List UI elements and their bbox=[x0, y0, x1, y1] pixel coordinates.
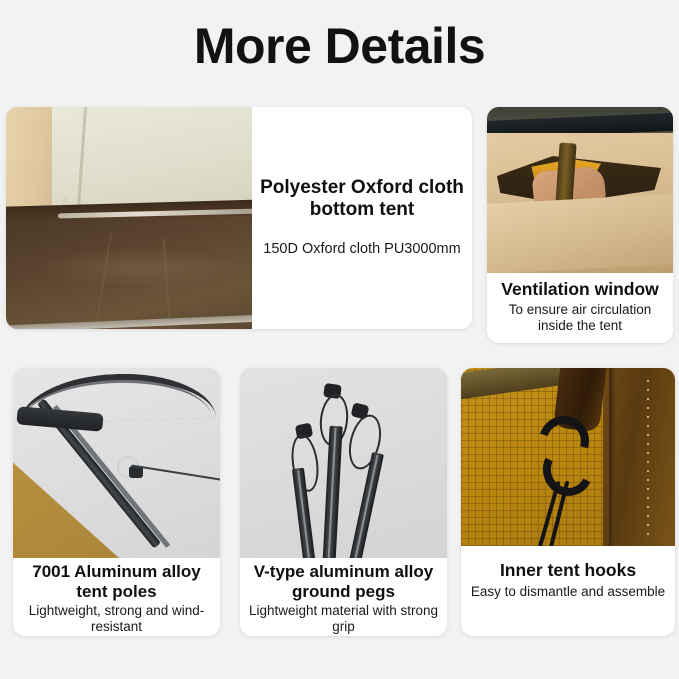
ground-pegs-text: V-type aluminum alloy ground pegs Lightw… bbox=[240, 560, 447, 636]
vent-lower-flap-shape bbox=[487, 194, 673, 273]
panel-seam-shape bbox=[609, 368, 615, 546]
bottom-tent-subtitle: 150D Oxford cloth PU3000mm bbox=[263, 241, 460, 258]
ventilation-text: Ventilation window To ensure air circula… bbox=[487, 275, 673, 343]
inner-tent-hooks-text: Inner tent hooks Easy to dismantle and a… bbox=[461, 548, 675, 636]
inner-tent-hooks-photo bbox=[461, 368, 675, 546]
hook-icon bbox=[539, 416, 583, 494]
ventilation-photo bbox=[487, 107, 673, 273]
tent-poles-title: 7001 Aluminum alloy tent poles bbox=[21, 562, 212, 601]
ventilation-subtitle: To ensure air circulation inside the ten… bbox=[495, 302, 665, 334]
detail-card-inner-tent-hooks[interactable]: Inner tent hooks Easy to dismantle and a… bbox=[461, 368, 675, 636]
inner-tent-hooks-subtitle: Easy to dismantle and assemble bbox=[471, 584, 665, 600]
tent-poles-photo bbox=[13, 368, 220, 558]
bottom-tent-photo bbox=[6, 107, 252, 329]
detail-card-ventilation[interactable]: Ventilation window To ensure air circula… bbox=[487, 107, 673, 343]
ground-pegs-subtitle: Lightweight material with strong grip bbox=[248, 603, 439, 635]
bottom-tent-text: Polyester Oxford cloth bottom tent 150D … bbox=[252, 107, 472, 329]
ground-pegs-photo bbox=[240, 368, 447, 558]
pegs-background-shape bbox=[240, 368, 447, 558]
detail-card-tent-poles[interactable]: 7001 Aluminum alloy tent poles Lightweig… bbox=[13, 368, 220, 636]
stitching-shape bbox=[647, 380, 649, 536]
ground-pegs-title: V-type aluminum alloy ground pegs bbox=[248, 562, 439, 601]
tent-poles-text: 7001 Aluminum alloy tent poles Lightweig… bbox=[13, 560, 220, 636]
tent-poles-subtitle: Lightweight, strong and wind-resistant bbox=[21, 603, 212, 635]
inner-tent-hooks-title: Inner tent hooks bbox=[500, 560, 636, 580]
ventilation-title: Ventilation window bbox=[501, 279, 659, 299]
page-title: More Details bbox=[0, 16, 679, 76]
detail-card-ground-pegs[interactable]: V-type aluminum alloy ground pegs Lightw… bbox=[240, 368, 447, 636]
bottom-tent-title: Polyester Oxford cloth bottom tent bbox=[260, 177, 464, 221]
detail-card-bottom-tent[interactable]: Polyester Oxford cloth bottom tent 150D … bbox=[6, 107, 472, 329]
tent-floor-highlight-shape bbox=[36, 247, 246, 287]
